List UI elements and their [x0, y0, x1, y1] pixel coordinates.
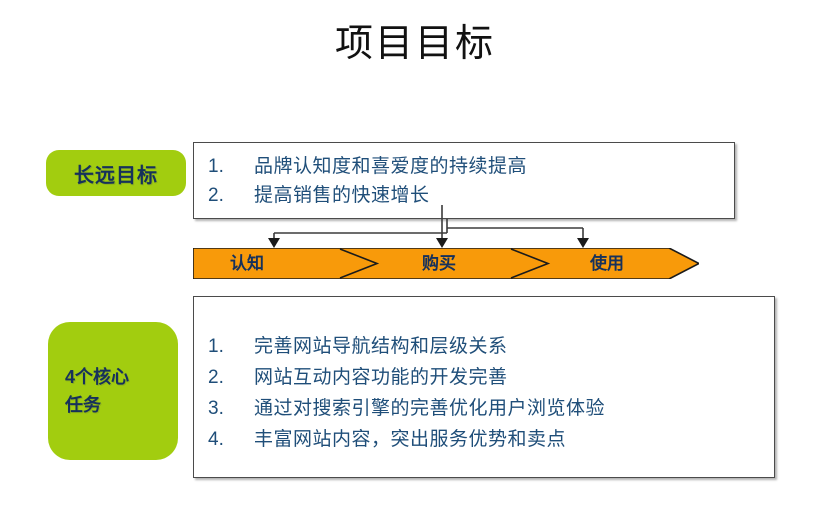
core-tasks-box: 1. 完善网站导航结构和层级关系 2. 网站互动内容功能的开发完善 3. 通过对…: [193, 296, 775, 478]
list-item: 3. 通过对搜索引擎的完善优化用户浏览体验: [208, 393, 774, 424]
list-item-number: 1.: [208, 152, 254, 181]
list-item-number: 2.: [208, 362, 254, 393]
page-title: 项目目标: [0, 20, 830, 68]
list-item-text: 丰富网站内容，突出服务优势和卖点: [254, 424, 566, 455]
list-item: 1. 完善网站导航结构和层级关系: [208, 331, 774, 362]
list-item-text: 品牌认知度和喜爱度的持续提高: [254, 152, 527, 181]
list-item: 2. 网站互动内容功能的开发完善: [208, 362, 774, 393]
list-item-number: 3.: [208, 393, 254, 424]
long-term-goals-list: 1. 品牌认知度和喜爱度的持续提高 2. 提高销售的快速增长: [208, 152, 734, 210]
process-stage-purchase: 购买: [389, 248, 489, 279]
list-item-text: 网站互动内容功能的开发完善: [254, 362, 508, 393]
process-stage-awareness: 认知: [199, 248, 289, 279]
process-chevron-band: 认知 购买 使用: [193, 248, 699, 279]
core-tasks-list: 1. 完善网站导航结构和层级关系 2. 网站互动内容功能的开发完善 3. 通过对…: [208, 331, 774, 455]
list-item: 1. 品牌认知度和喜爱度的持续提高: [208, 152, 734, 181]
long-term-goals-box: 1. 品牌认知度和喜爱度的持续提高 2. 提高销售的快速增长: [193, 142, 735, 219]
process-stage-usage: 使用: [557, 248, 657, 279]
list-item: 4. 丰富网站内容，突出服务优势和卖点: [208, 424, 774, 455]
long-term-goal-label: 长远目标: [46, 150, 186, 196]
core-tasks-label-line2: 任务: [65, 391, 178, 419]
list-item-number: 2.: [208, 181, 254, 210]
list-item-text: 提高销售的快速增长: [254, 181, 430, 210]
slide-canvas: 项目目标 长远目标 1. 品牌认知度和喜爱度的持续提高 2. 提高销售的快速增长: [0, 0, 830, 512]
long-term-goal-label-text: 长远目标: [74, 159, 158, 188]
list-item-number: 4.: [208, 424, 254, 455]
core-tasks-label: 4个核心 任务: [48, 322, 178, 460]
list-item-text: 通过对搜索引擎的完善优化用户浏览体验: [254, 393, 605, 424]
list-item-text: 完善网站导航结构和层级关系: [254, 331, 508, 362]
list-item-number: 1.: [208, 331, 254, 362]
list-item: 2. 提高销售的快速增长: [208, 181, 734, 210]
core-tasks-label-line1: 4个核心: [65, 363, 178, 391]
